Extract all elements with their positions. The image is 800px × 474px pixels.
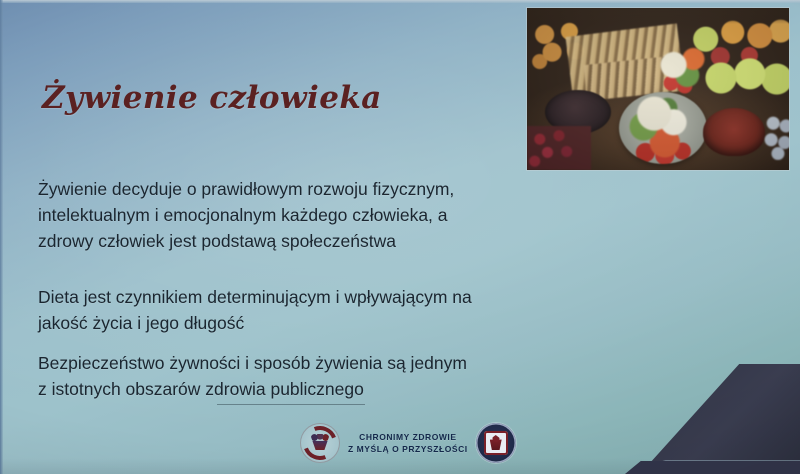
screen-frame-bottom bbox=[625, 461, 800, 474]
paragraph-line: intelektualnym i emocjonalnym każdego cz… bbox=[38, 202, 644, 228]
paragraph-line: Żywienie decyduje o prawidłowym rozwoju … bbox=[38, 176, 644, 202]
paragraph-line: jakość życia i jego długość bbox=[38, 310, 644, 336]
footer-slogan-line-2: Z MYŚLĄ O PRZYSZŁOŚCI bbox=[348, 443, 468, 455]
projected-slide: Żywienie człowieka Żywienie decyduje o p… bbox=[0, 0, 800, 474]
screen-left-edge bbox=[0, 0, 3, 474]
footer-slogan-line-1: CHRONIMY ZDROWIE bbox=[348, 431, 468, 443]
paragraph-line: Dieta jest czynnikiem determinującym i w… bbox=[38, 284, 644, 310]
slide-paragraph-2: Dieta jest czynnikiem determinującym i w… bbox=[38, 284, 644, 336]
screen-top-edge bbox=[0, 0, 800, 3]
footer-branding: CHRONIMY ZDROWIE Z MYŚLĄ O PRZYSZŁOŚCI bbox=[300, 420, 505, 466]
paragraph-line: Bezpieczeństwo żywności i sposób żywieni… bbox=[38, 350, 644, 376]
paragraph-line: z istotnych obszarów zdrowia publicznego bbox=[38, 376, 644, 402]
institutional-seal-logo bbox=[476, 423, 516, 463]
screen-corner-shadow bbox=[640, 364, 800, 474]
food-buffet-photo bbox=[527, 8, 789, 170]
slide-paragraph-1: Żywienie decyduje o prawidłowym rozwoju … bbox=[38, 176, 644, 254]
text-underline-mark bbox=[217, 404, 365, 405]
chronimy-zdrowie-logo bbox=[300, 423, 340, 463]
slide-title: Żywienie człowieka bbox=[42, 80, 382, 116]
slide-paragraph-3: Bezpieczeństwo żywności i sposób żywieni… bbox=[38, 350, 644, 402]
paragraph-line: zdrowy człowiek jest podstawą społeczeńs… bbox=[38, 228, 644, 254]
footer-slogan: CHRONIMY ZDROWIE Z MYŚLĄ O PRZYSZŁOŚCI bbox=[348, 431, 468, 455]
